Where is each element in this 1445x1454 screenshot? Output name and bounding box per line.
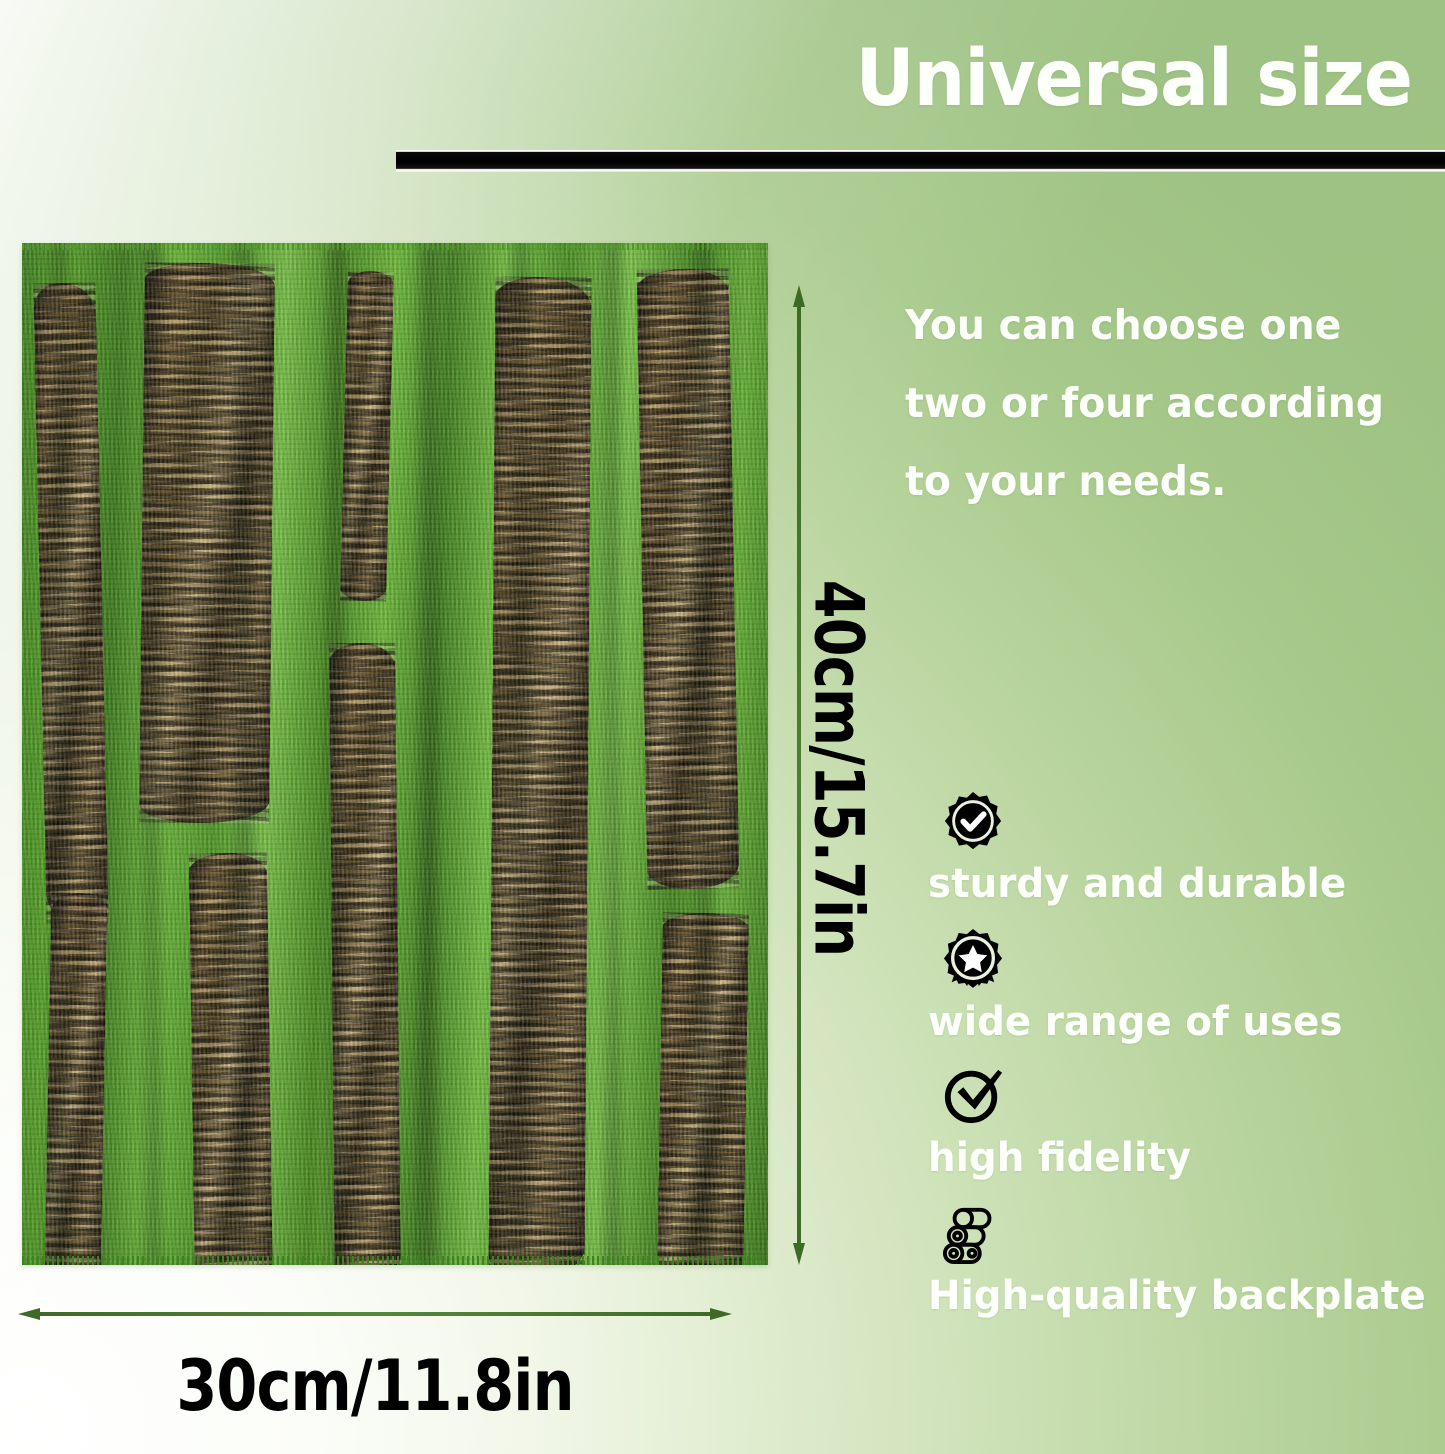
feature-item-high-quality-backplate: High-quality backplate bbox=[928, 1202, 1440, 1322]
feature-label: high fidelity bbox=[928, 1132, 1425, 1184]
feature-label: High-quality backplate bbox=[928, 1270, 1425, 1322]
lead-line-2: two or four according bbox=[905, 364, 1404, 442]
panel-top-fringe bbox=[22, 243, 768, 250]
award-ribbon-star-icon bbox=[942, 928, 1004, 990]
panel-bottom-fringe bbox=[22, 1256, 768, 1265]
title-divider-bar bbox=[396, 150, 1445, 171]
badge-check-icon bbox=[942, 790, 1004, 852]
page-title: Universal size bbox=[750, 36, 1412, 122]
infographic-canvas: Universal size 40cm/15.7in 30cm/11.8in Y… bbox=[0, 0, 1445, 1454]
width-dimension-text: 30cm/11.8in bbox=[176, 1345, 573, 1427]
lead-paragraph: You can choose one two or four according… bbox=[905, 286, 1425, 520]
feature-list: sturdy and durable wide range of uses bbox=[928, 790, 1440, 1326]
height-dimension-text: 40cm/15.7in bbox=[799, 580, 878, 956]
arrow-head-down-icon bbox=[793, 1243, 805, 1265]
feature-item-high-fidelity: high fidelity bbox=[928, 1064, 1440, 1184]
feature-item-wide-range-of-uses: wide range of uses bbox=[928, 928, 1440, 1048]
lead-line-3: to your needs. bbox=[905, 442, 1404, 520]
circle-check-icon bbox=[942, 1064, 1004, 1126]
feature-item-sturdy-and-durable: sturdy and durable bbox=[928, 790, 1440, 910]
width-dimension-arrow bbox=[18, 1308, 732, 1320]
stacked-logs-icon bbox=[942, 1202, 1004, 1264]
panel-vignette bbox=[22, 243, 768, 1265]
arrow-shaft bbox=[34, 1312, 718, 1316]
lead-line-1: You can choose one bbox=[905, 286, 1404, 364]
feature-label: sturdy and durable bbox=[928, 858, 1425, 910]
arrow-head-right-icon bbox=[710, 1308, 732, 1320]
feature-label: wide range of uses bbox=[928, 996, 1425, 1048]
moss-bark-panel-photo bbox=[22, 243, 768, 1265]
width-dimension-label: 30cm/11.8in bbox=[139, 1345, 612, 1427]
height-dimension-label: 40cm/15.7in bbox=[799, 538, 878, 997]
